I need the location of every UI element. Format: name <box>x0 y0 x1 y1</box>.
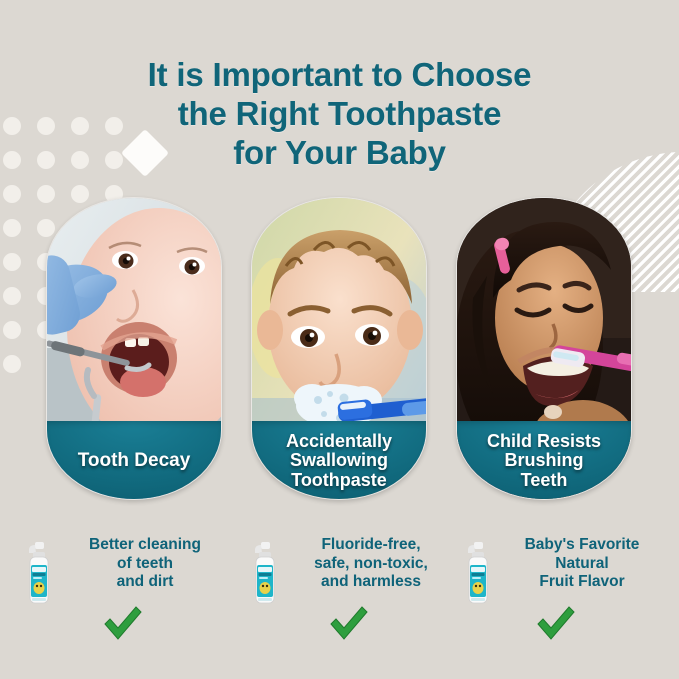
card-label: Child Resists Brushing Teeth <box>481 432 607 490</box>
card-row: Tooth Decay <box>0 197 679 502</box>
benefit-line-1: Baby's Favorite <box>491 536 673 555</box>
card-label-line-2: Swallowing <box>286 451 392 470</box>
card-label-line-1: Child Resists <box>487 432 601 451</box>
title-line-3: for Your Baby <box>0 134 679 173</box>
card-banner-resists: Child Resists Brushing Teeth <box>456 421 632 500</box>
card-label-line-3: Toothpaste <box>286 471 392 490</box>
check-glyph <box>326 602 372 646</box>
benefit-line-1: Better cleaning <box>56 536 234 555</box>
benefit-line-1: Fluoride-free, <box>282 536 460 555</box>
benefit-label: Fluoride-free, safe, non-toxic, and harm… <box>282 536 460 592</box>
benefit-fluoride-free: Fluoride-free, safe, non-toxic, and harm… <box>240 528 466 668</box>
green-check-icon <box>100 602 146 646</box>
card-child-resists-brushing[interactable]: Child Resists Brushing Teeth <box>456 197 632 500</box>
page-title: It is Important to Choose the Right Toot… <box>0 56 679 173</box>
toothpaste-bottle-icon <box>252 542 278 604</box>
bottle-glyph <box>465 542 491 604</box>
benefit-line-2: of teeth <box>56 555 234 574</box>
card-label-line-2: Brushing <box>487 451 601 470</box>
benefit-line-2: safe, non-toxic, <box>282 555 460 574</box>
card-label: Tooth Decay <box>72 451 197 471</box>
toothpaste-bottle-icon <box>465 542 491 604</box>
bottle-glyph <box>252 542 278 604</box>
check-glyph <box>533 602 579 646</box>
card-tooth-decay[interactable]: Tooth Decay <box>46 197 222 500</box>
card-label-line-1: Accidentally <box>286 432 392 451</box>
benefit-better-cleaning: Better cleaning of teeth and dirt <box>14 528 240 668</box>
infographic-canvas: It is Important to Choose the Right Toot… <box>0 0 679 679</box>
benefit-fruit-flavor: Baby's Favorite Natural Fruit Flavor <box>453 528 679 668</box>
benefit-line-3: and dirt <box>56 573 234 592</box>
toothpaste-bottle-icon <box>26 542 52 604</box>
card-swallowing-toothpaste[interactable]: Accidentally Swallowing Toothpaste <box>251 197 427 500</box>
benefit-label: Better cleaning of teeth and dirt <box>56 536 234 592</box>
benefits-row: Better cleaning of teeth and dirt <box>0 528 679 668</box>
card-label-line-3: Teeth <box>487 471 601 490</box>
bottle-glyph <box>26 542 52 604</box>
benefit-line-3: Fruit Flavor <box>491 573 673 592</box>
green-check-icon <box>533 602 579 646</box>
title-line-2: the Right Toothpaste <box>0 95 679 134</box>
benefit-label: Baby's Favorite Natural Fruit Flavor <box>491 536 673 592</box>
card-label: Accidentally Swallowing Toothpaste <box>280 432 398 490</box>
check-glyph <box>100 602 146 646</box>
benefit-line-2: Natural <box>491 555 673 574</box>
title-line-1: It is Important to Choose <box>0 56 679 95</box>
green-check-icon <box>326 602 372 646</box>
benefit-line-3: and harmless <box>282 573 460 592</box>
